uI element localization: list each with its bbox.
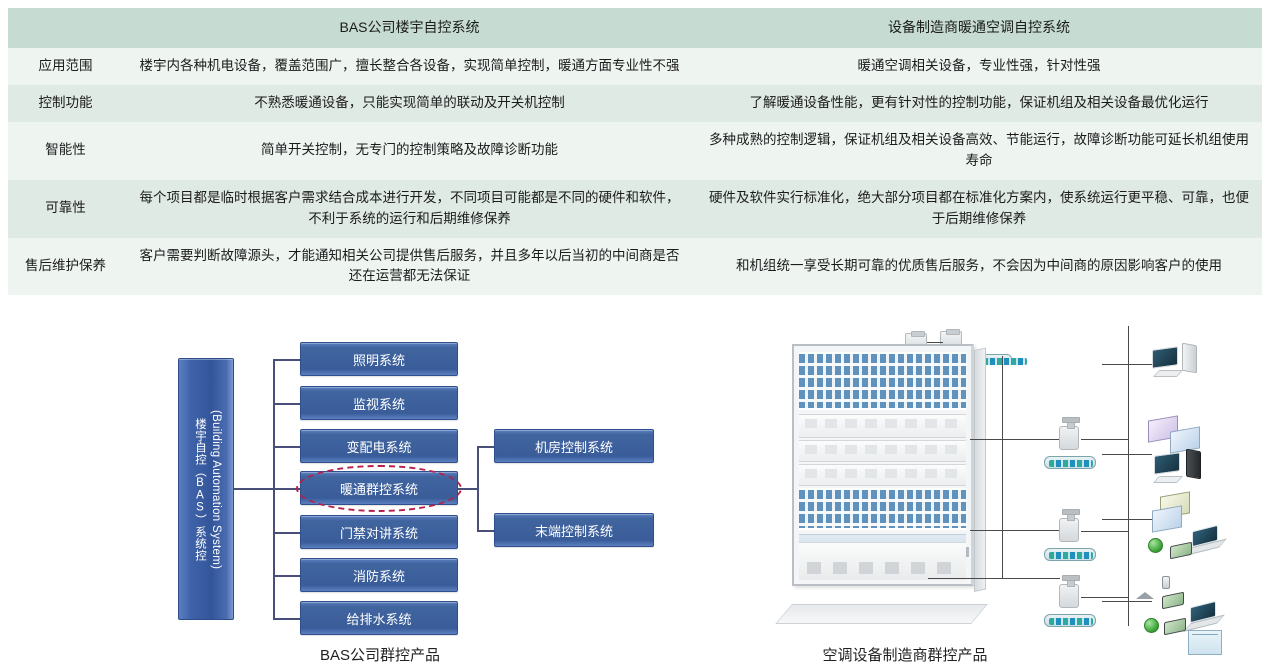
- field-controller-icon: [1059, 518, 1079, 542]
- table-row: 智能性 简单开关控制，无专门的控制策略及故障诊断功能 多种成熟的控制逻辑，保证机…: [8, 122, 1262, 180]
- row-cell-col-b: 硬件及软件实行标准化，绝大部分项目都在标准化方案内，使系统运行更平稳、可靠，也便…: [696, 180, 1262, 238]
- row-cell-col-a: 每个项目都是临时根据客户需求结合成本进行开发，不同项目可能都是不同的硬件和软件，…: [123, 180, 696, 238]
- keyboard-icon: [1153, 476, 1183, 483]
- wire-segment: [1081, 439, 1129, 440]
- node-access-intercom[interactable]: 门禁对讲系统: [300, 515, 458, 549]
- building-side-wall: [974, 347, 986, 592]
- node-power-distribution[interactable]: 变配电系统: [300, 429, 458, 463]
- node-label: 门禁对讲系统: [340, 523, 418, 542]
- row-cell-col-b: 和机组统一享受长期可靠的优质售后服务，不会因为中间商的原因影响客户的使用: [696, 238, 1262, 296]
- monitor-icon: [1152, 346, 1178, 369]
- globe-icon: [1148, 538, 1163, 553]
- node-label: 机房控制系统: [535, 437, 613, 456]
- wire-segment: [1102, 454, 1152, 455]
- wire-segment: [1102, 519, 1152, 520]
- wire-riser: [1002, 356, 1003, 578]
- connector-hvac-stub: [458, 488, 478, 490]
- building-ground-plate: [775, 604, 988, 624]
- bas-root-label-en: (Building Automation System): [210, 410, 222, 569]
- node-label: 暖通群控系统: [340, 479, 418, 498]
- tablet-icon: [1164, 618, 1186, 636]
- header-corner-cell: [8, 8, 123, 48]
- row-cell-col-b: 了解暖通设备性能，更有针对性的控制功能，保证机组及相关设备最优化运行: [696, 85, 1262, 122]
- equipment-floor: [799, 440, 966, 462]
- row-cell-col-b: 暖通空调相关设备，专业性强，针对性强: [696, 48, 1262, 85]
- connector-branch: [273, 575, 301, 577]
- node-fire-protection[interactable]: 消防系统: [300, 558, 458, 592]
- wire-segment: [927, 342, 943, 343]
- node-label: 变配电系统: [346, 437, 411, 456]
- keyboard-icon: [1153, 370, 1183, 377]
- network-trunk-line: [1128, 326, 1129, 626]
- row-cell-col-a: 楼宇内各种机电设备，覆盖范围广，擅长整合各设备，实现简单控制，暖通方面专业性不强: [123, 48, 696, 85]
- row-label: 控制功能: [8, 85, 123, 122]
- node-hvac-group-control[interactable]: 暖通群控系统: [300, 471, 458, 505]
- table-row: 应用范围 楼宇内各种机电设备，覆盖范围广，擅长整合各设备，实现简单控制，暖通方面…: [8, 48, 1262, 85]
- connector-sub-branch: [477, 446, 495, 448]
- glass-curtain-wall-floors: [799, 352, 966, 410]
- field-controller-icon: [1059, 426, 1079, 450]
- connector-branch: [273, 359, 301, 361]
- row-cell-col-b: 多种成熟的控制逻辑，保证机组及相关设备高效、节能运行，故障诊断功能可延长机组使用…: [696, 122, 1262, 180]
- node-label: 监视系统: [353, 394, 405, 413]
- glass-curtain-wall-floors: [799, 488, 966, 530]
- table-row: 售后维护保养 客户需要判断故障源头，才能通知相关公司提供售后服务，并且多年以后当…: [8, 238, 1262, 296]
- window-card-icon: [1152, 505, 1182, 532]
- comparison-table: BAS公司楼宇自控系统 设备制造商暖通空调自控系统 应用范围 楼宇内各种机电设备…: [8, 8, 1262, 295]
- controller-display-panel-icon: [1044, 614, 1096, 627]
- connector-branch: [273, 618, 301, 620]
- node-terminal-control[interactable]: 末端控制系统: [494, 513, 654, 547]
- row-label: 智能性: [8, 122, 123, 180]
- laptop-icon: [1192, 525, 1218, 547]
- row-cell-col-a: 不熟悉暖通设备，只能实现简单的联动及开关机控制: [123, 85, 696, 122]
- wire-segment: [1081, 531, 1129, 532]
- header-col-b: 设备制造商暖通空调自控系统: [696, 8, 1262, 48]
- wireless-access-point-icon: [1136, 592, 1154, 599]
- connector-branch: [273, 488, 301, 490]
- row-label: 售后维护保养: [8, 238, 123, 296]
- controller-display-panel-icon: [1044, 548, 1096, 561]
- table-row: 控制功能 不熟悉暖通设备，只能实现简单的联动及开关机控制 了解暖通设备性能，更有…: [8, 85, 1262, 122]
- table-header-row: BAS公司楼宇自控系统 设备制造商暖通空调自控系统: [8, 8, 1262, 48]
- pc-tower-icon: [1182, 343, 1197, 374]
- bas-block-diagram: 楼宇自控（BAS）系统控 (Building Automation System…: [0, 326, 640, 664]
- pc-tower-icon: [1186, 449, 1201, 480]
- wire-segment: [1102, 601, 1152, 602]
- tablet-icon: [1162, 592, 1184, 610]
- node-label: 照明系统: [353, 350, 405, 369]
- bas-root-box: 楼宇自控（BAS）系统控 (Building Automation System…: [178, 358, 234, 620]
- building-cutaway: [792, 344, 987, 606]
- building-shell: [792, 344, 974, 586]
- row-cell-col-a: 简单开关控制，无专门的控制策略及故障诊断功能: [123, 122, 696, 180]
- hvac-system-illustration: 空调设备制造商群控产品: [640, 326, 1270, 664]
- laptop-icon: [1190, 601, 1216, 623]
- connector-branch: [273, 446, 301, 448]
- connector-sub-branch: [477, 530, 495, 532]
- globe-icon: [1144, 618, 1159, 633]
- connector-branch: [273, 532, 301, 534]
- connector-branch: [273, 403, 301, 405]
- connector-sub-spine: [477, 446, 479, 531]
- header-col-a: BAS公司楼宇自控系统: [123, 8, 696, 48]
- node-surveillance-system[interactable]: 监视系统: [300, 386, 458, 420]
- wire-segment: [928, 578, 1060, 579]
- tablet-icon: [1170, 542, 1192, 560]
- equipment-floor: [799, 414, 966, 438]
- node-label: 消防系统: [353, 566, 405, 585]
- equipment-floor: [799, 464, 966, 486]
- right-illustration-caption: 空调设备制造商群控产品: [800, 644, 1010, 664]
- row-label: 应用范围: [8, 48, 123, 85]
- node-label: 给排水系统: [346, 609, 411, 628]
- row-label: 可靠性: [8, 180, 123, 238]
- display-screen-icon: [1188, 630, 1222, 655]
- node-machine-room-control[interactable]: 机房控制系统: [494, 429, 654, 463]
- table-row: 可靠性 每个项目都是临时根据客户需求结合成本进行开发，不同项目可能都是不同的硬件…: [8, 180, 1262, 238]
- node-label: 末端控制系统: [535, 521, 613, 540]
- page-root: BAS公司楼宇自控系统 设备制造商暖通空调自控系统 应用范围 楼宇内各种机电设备…: [0, 0, 1270, 664]
- node-water-supply-drainage[interactable]: 给排水系统: [300, 601, 458, 635]
- wire-segment: [1102, 364, 1152, 365]
- controller-display-panel-icon: [1044, 456, 1096, 469]
- wire-segment: [1081, 597, 1129, 598]
- field-controller-icon: [1059, 584, 1079, 608]
- bas-root-label-group: 楼宇自控（BAS）系统控 (Building Automation System…: [179, 359, 235, 621]
- basement-pump-room: [799, 542, 966, 580]
- left-diagram-caption: BAS公司群控产品: [278, 644, 482, 664]
- connector-root-stub: [234, 488, 274, 490]
- node-lighting-system[interactable]: 照明系统: [300, 342, 458, 376]
- wire-segment: [970, 439, 1060, 440]
- bas-root-label-cn: 楼宇自控（BAS）系统控: [192, 418, 208, 561]
- monitor-icon: [1154, 452, 1180, 475]
- row-cell-col-a: 客户需要判断故障源头，才能通知相关公司提供售后服务，并且多年以后当初的中间商是否…: [123, 238, 696, 296]
- smartphone-icon: [1162, 576, 1170, 589]
- wire-segment: [970, 530, 1060, 531]
